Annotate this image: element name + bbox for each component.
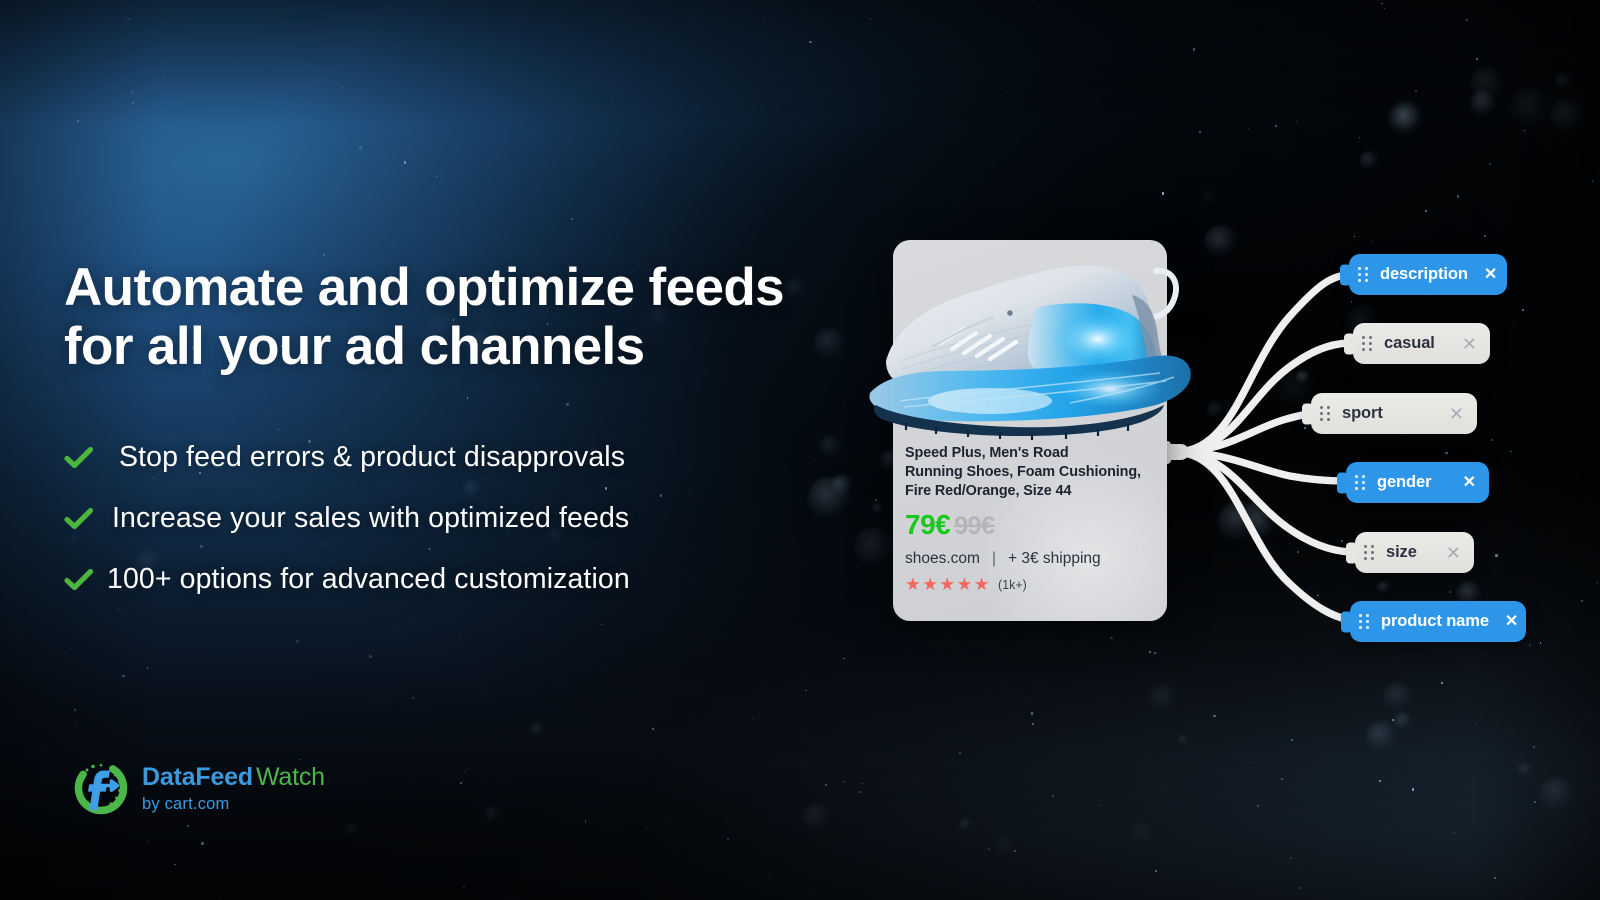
- benefits-list: Stop feed errors & product disapprovals …: [64, 427, 824, 610]
- attribute-tag-label: gender: [1377, 473, 1431, 492]
- product-details: Speed Plus, Men's Road Running Shoes, Fo…: [905, 444, 1157, 594]
- product-meta: shoes.com | + 3€ shipping: [905, 550, 1157, 568]
- product-title: Speed Plus, Men's Road Running Shoes, Fo…: [905, 444, 1157, 501]
- logo-wordmark: DataFeedWatch by cart.com: [142, 765, 325, 814]
- list-item: Increase your sales with optimized feeds: [64, 488, 824, 549]
- check-icon: [64, 568, 104, 592]
- product-rating: ★★★★★ (1k+): [905, 576, 1157, 594]
- list-item: 100+ options for advanced customization: [64, 549, 824, 610]
- attribute-tag-label: product name: [1381, 612, 1489, 631]
- list-item-label: Increase your sales with optimized feeds: [104, 502, 629, 535]
- headline-line-1: Automate and optimize feeds: [64, 258, 784, 317]
- merchant-name: shoes.com: [905, 550, 980, 568]
- attribute-tag-label: sport: [1342, 404, 1383, 423]
- price-current: 79€: [905, 509, 950, 541]
- drag-handle-icon[interactable]: [1359, 614, 1372, 630]
- connector-nub: [1346, 542, 1357, 563]
- close-icon[interactable]: ✕: [1447, 475, 1476, 491]
- close-icon[interactable]: ✕: [1433, 405, 1464, 423]
- hero-banner: Automate and optimize feeds for all your…: [0, 0, 1600, 900]
- close-icon[interactable]: ✕: [1468, 267, 1497, 283]
- datafeedwatch-logo[interactable]: DataFeedWatch by cart.com: [70, 757, 325, 819]
- list-item: Stop feed errors & product disapprovals: [64, 427, 824, 488]
- attribute-tag-size[interactable]: size ✕: [1355, 532, 1474, 573]
- product-price: 79€ 99€: [905, 509, 1157, 541]
- drag-handle-icon[interactable]: [1362, 336, 1375, 352]
- attribute-tag-label: casual: [1384, 334, 1435, 353]
- close-icon[interactable]: ✕: [1446, 335, 1477, 353]
- drag-handle-icon[interactable]: [1355, 475, 1368, 491]
- attribute-tag-sport[interactable]: sport ✕: [1311, 393, 1477, 434]
- attribute-tag-description[interactable]: description ✕: [1349, 254, 1507, 295]
- headline-line-2: for all your ad channels: [64, 317, 884, 376]
- connector-nub: [1341, 611, 1352, 632]
- close-icon[interactable]: ✕: [1430, 544, 1461, 562]
- connector-nub: [1337, 472, 1348, 493]
- product-card[interactable]: Speed Plus, Men's Road Running Shoes, Fo…: [893, 240, 1167, 621]
- drag-handle-icon[interactable]: [1320, 406, 1333, 422]
- attribute-tag-gender[interactable]: gender ✕: [1346, 462, 1489, 503]
- close-icon[interactable]: ✕: [1489, 614, 1518, 630]
- drag-handle-icon[interactable]: [1358, 267, 1371, 283]
- price-original: 99€: [954, 512, 994, 541]
- logo-byline: by cart.com: [142, 795, 325, 814]
- drag-handle-icon[interactable]: [1364, 545, 1377, 561]
- datafeedwatch-f-arrow-icon: [70, 757, 132, 819]
- attribute-tag-casual[interactable]: casual ✕: [1353, 323, 1490, 364]
- connector-nub: [1344, 333, 1355, 354]
- connector-nub: [1340, 264, 1351, 285]
- meta-separator: |: [992, 550, 996, 568]
- page-title: Automate and optimize feeds for all your…: [64, 258, 884, 377]
- logo-name-watch: Watch: [256, 763, 325, 791]
- list-item-label: 100+ options for advanced customization: [104, 563, 630, 596]
- attribute-tag-label: description: [1380, 265, 1468, 284]
- check-icon: [64, 507, 104, 531]
- rating-count: (1k+): [998, 578, 1027, 592]
- logo-name-datafeed: DataFeed: [142, 763, 253, 791]
- star-rating-icon: ★★★★★: [905, 576, 991, 594]
- attribute-tag-product-name[interactable]: product name ✕: [1350, 601, 1526, 642]
- shipping-cost: + 3€ shipping: [1008, 550, 1101, 568]
- check-icon: [64, 446, 104, 470]
- attribute-tag-label: size: [1386, 543, 1417, 562]
- connector-nub: [1302, 403, 1313, 424]
- list-item-label: Stop feed errors & product disapprovals: [104, 441, 625, 474]
